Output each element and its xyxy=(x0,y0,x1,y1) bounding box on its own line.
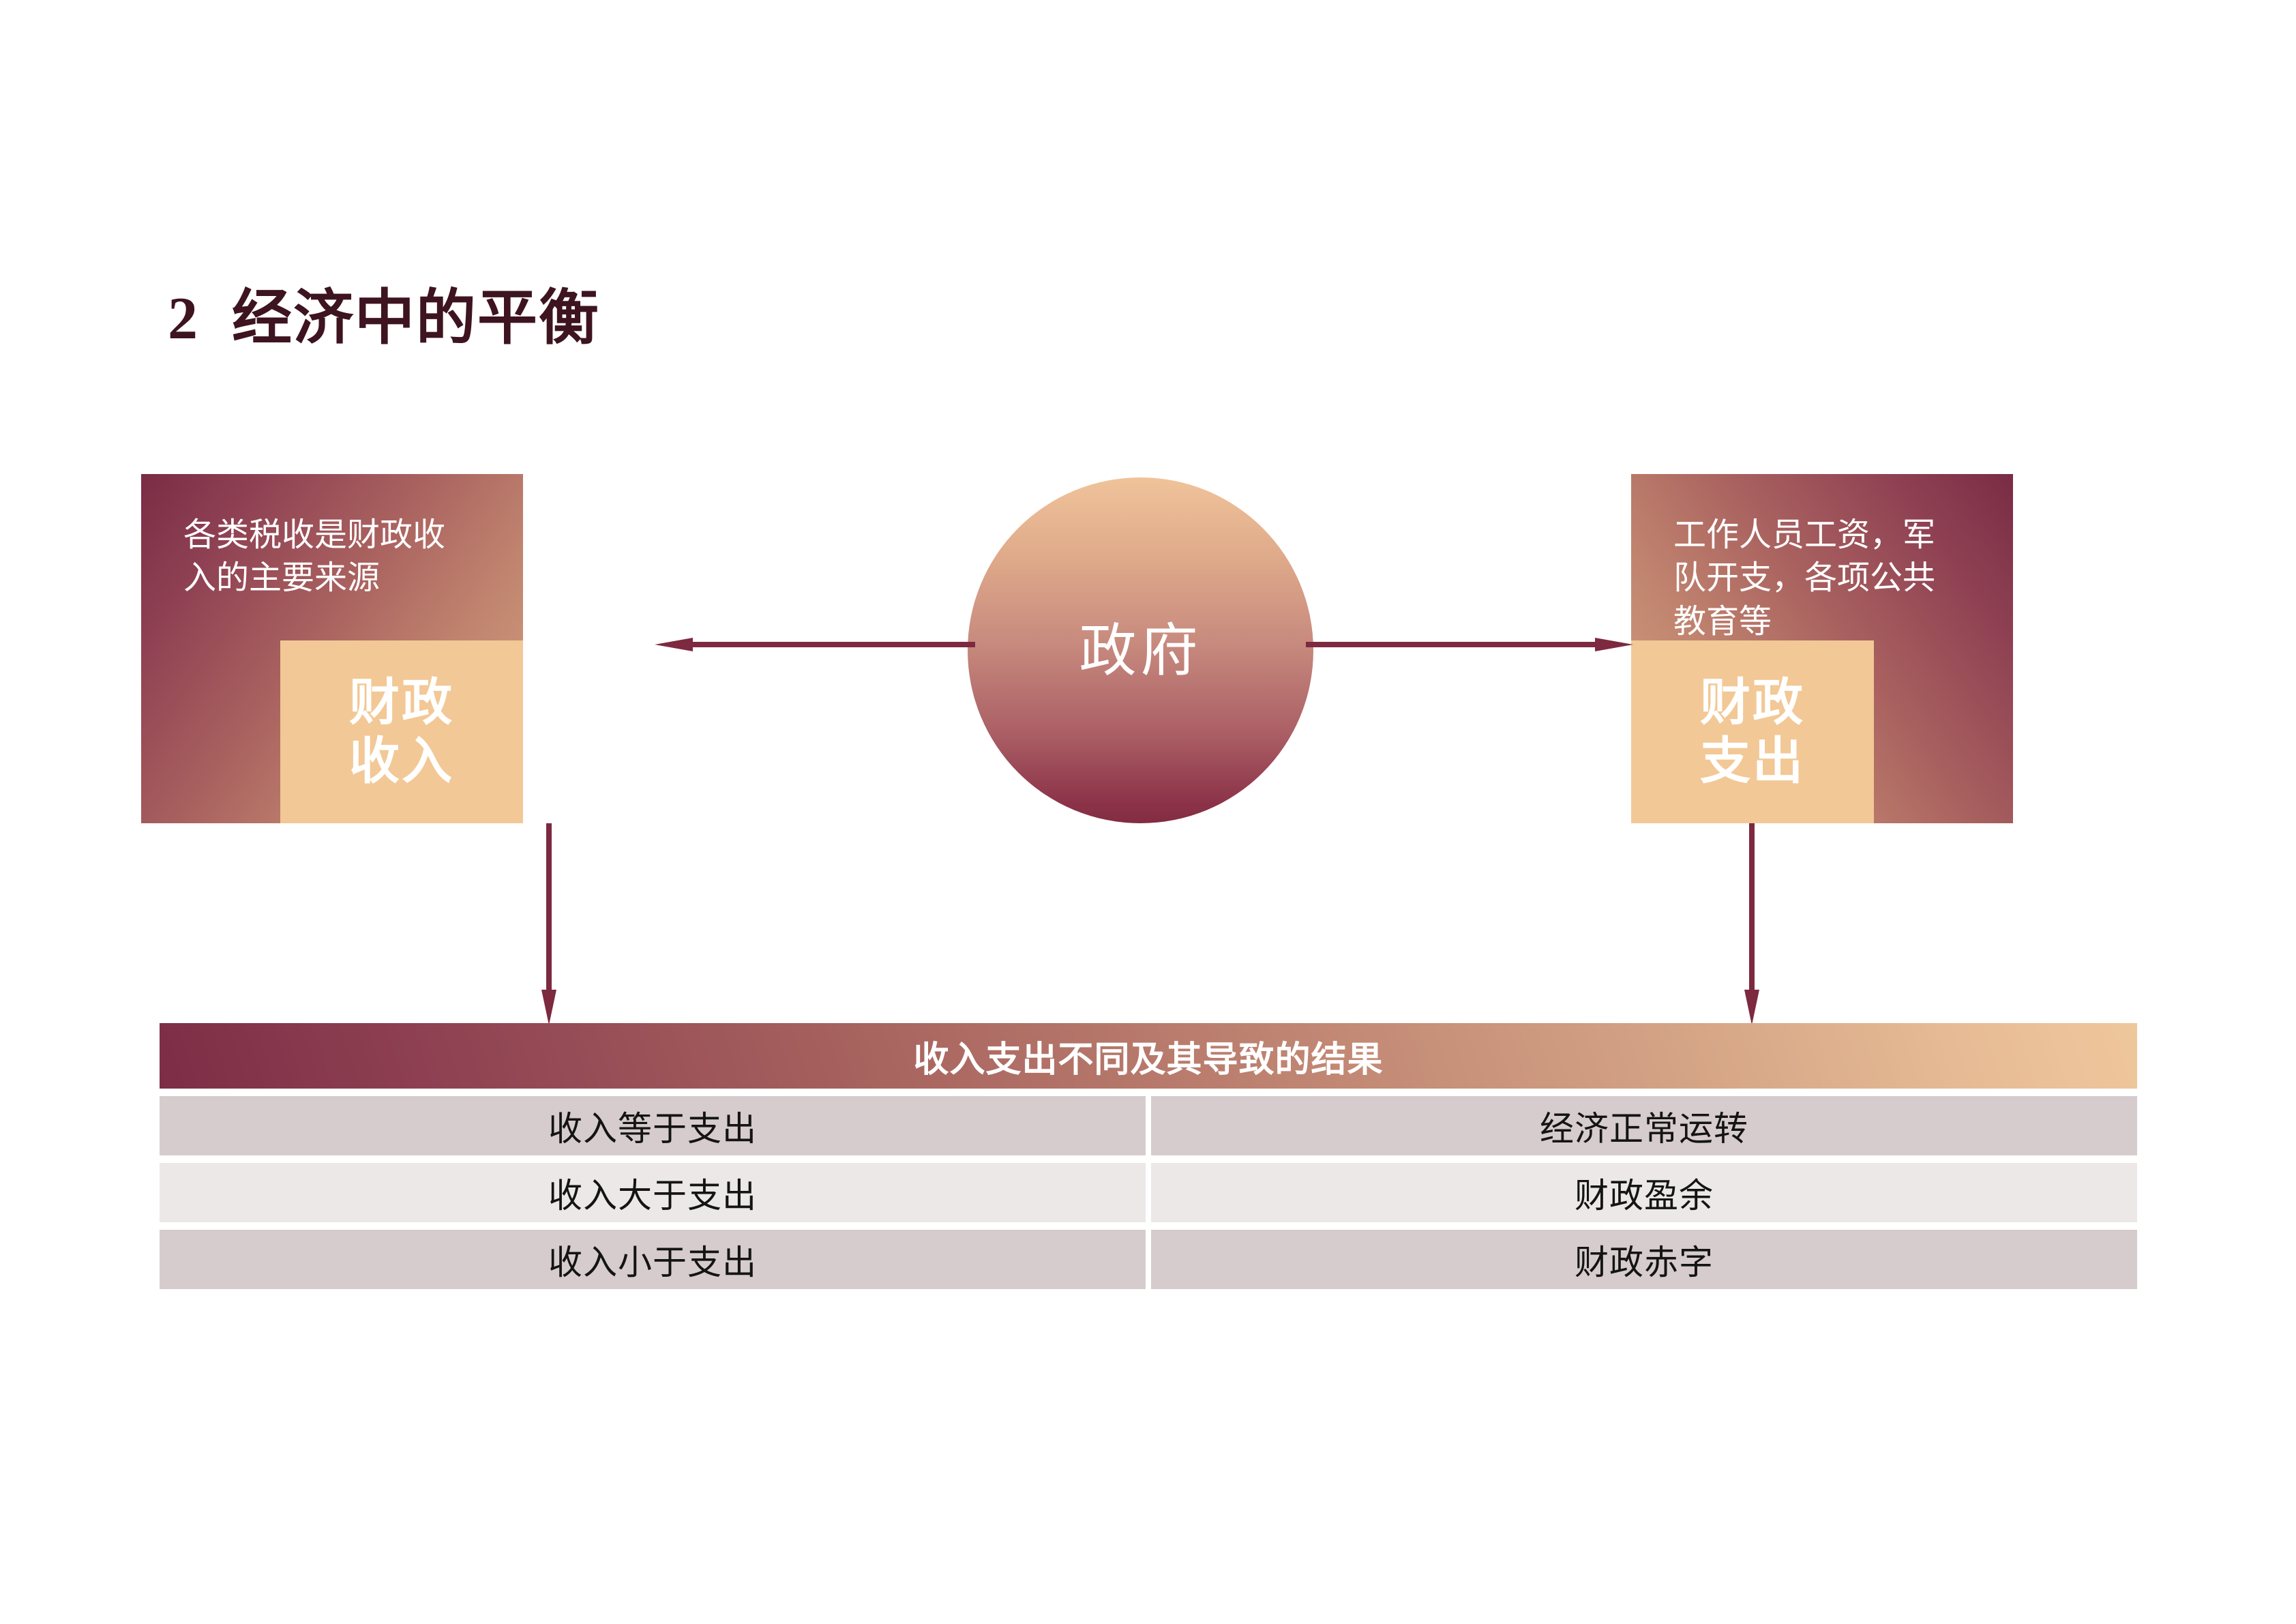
table-row: 收入大于支出 财政盈余 xyxy=(160,1163,2137,1222)
result-table: 收入支出不同及其导致的结果 收入等于支出 经济正常运转 收入大于支出 财政盈余 … xyxy=(160,1023,2137,1289)
government-node: 政府 xyxy=(968,477,1313,823)
expenditure-tag-line-2: 支出 xyxy=(1700,732,1805,791)
arrow-right-icon xyxy=(1306,638,1633,651)
expenditure-panel: 工作人员工资，军队开支，各项公共教育等 财政 支出 xyxy=(1631,474,2013,823)
revenue-tag-line-1: 财政 xyxy=(349,673,454,732)
arrow-left-icon xyxy=(655,638,975,651)
revenue-tag: 财政 收入 xyxy=(280,640,523,823)
table-column-divider xyxy=(1146,1230,1151,1289)
table-column-divider xyxy=(1146,1096,1151,1155)
government-label: 政府 xyxy=(1079,622,1202,679)
table-cell-condition: 收入等于支出 xyxy=(160,1096,1146,1155)
table-row: 收入等于支出 经济正常运转 xyxy=(160,1096,2137,1155)
expenditure-description: 工作人员工资，军队开支，各项公共教育等 xyxy=(1673,514,1967,643)
table-header: 收入支出不同及其导致的结果 xyxy=(160,1023,2137,1089)
table-header-label: 收入支出不同及其导致的结果 xyxy=(913,1031,1383,1082)
arrow-down-expenditure-icon xyxy=(1744,823,1759,1025)
revenue-panel: 各类税收是财政收入的主要来源 财政 收入 xyxy=(141,474,523,823)
table-cell-result: 财政赤字 xyxy=(1151,1230,2137,1289)
expenditure-tag-line-1: 财政 xyxy=(1700,673,1805,732)
table-row: 收入小于支出 财政赤字 xyxy=(160,1230,2137,1289)
table-cell-result: 经济正常运转 xyxy=(1151,1096,2137,1155)
table-cell-condition: 收入大于支出 xyxy=(160,1163,1146,1222)
revenue-description: 各类税收是财政收入的主要来源 xyxy=(183,514,477,600)
expenditure-tag: 财政 支出 xyxy=(1631,640,1874,823)
page-title: 2 经济中的平衡 xyxy=(168,289,600,349)
arrow-down-revenue-icon xyxy=(541,823,556,1025)
table-cell-condition: 收入小于支出 xyxy=(160,1230,1146,1289)
table-column-divider xyxy=(1146,1163,1151,1222)
revenue-tag-line-2: 收入 xyxy=(349,732,454,791)
table-cell-result: 财政盈余 xyxy=(1151,1163,2137,1222)
